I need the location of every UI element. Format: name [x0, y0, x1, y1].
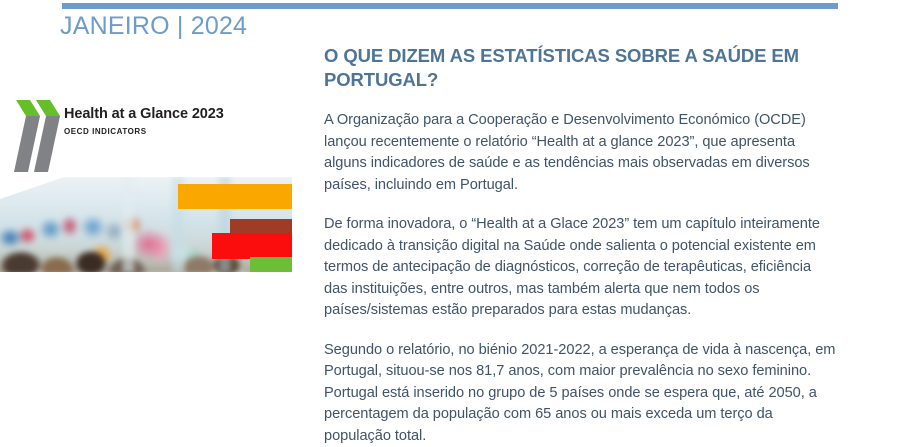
header-rule — [62, 3, 838, 9]
cover-green-bar — [250, 257, 292, 272]
article-title: O QUE DIZEM AS ESTATÍSTICAS SOBRE A SAÚD… — [324, 44, 836, 92]
oecd-logo-text: Health at a Glance 2023 OECD INDICATORS — [64, 106, 224, 136]
issue-date: JANEIRO | 2024 — [60, 10, 247, 42]
oecd-double-chevron-icon — [14, 100, 62, 172]
article-column: O QUE DIZEM AS ESTATÍSTICAS SOBRE A SAÚD… — [324, 44, 836, 447]
oecd-logo-subtitle: OECD INDICATORS — [64, 127, 224, 136]
article-paragraph: De forma inovadora, o “Health at a Glace… — [324, 214, 836, 322]
cover-column: Health at a Glance 2023 OECD INDICATORS — [0, 95, 300, 177]
oecd-logo-block: Health at a Glance 2023 OECD INDICATORS — [0, 95, 300, 177]
cover-red-bar — [212, 233, 292, 259]
article-paragraph: A Organização para a Cooperação e Desenv… — [324, 110, 836, 196]
article-body: A Organização para a Cooperação e Desenv… — [324, 110, 836, 447]
hospital-waiting-room-photo — [0, 177, 292, 272]
article-paragraph: Segundo o relatório, no biénio 2021-2022… — [324, 340, 836, 447]
newsletter-page: { "header": { "rule_color": "#6D9BCB", "… — [0, 0, 900, 426]
photo-corner-notch-fill — [0, 177, 36, 186]
photo-corner-notch — [0, 177, 64, 199]
oecd-logo-title: Health at a Glance 2023 — [64, 106, 224, 123]
cover-orange-bar — [178, 184, 292, 209]
